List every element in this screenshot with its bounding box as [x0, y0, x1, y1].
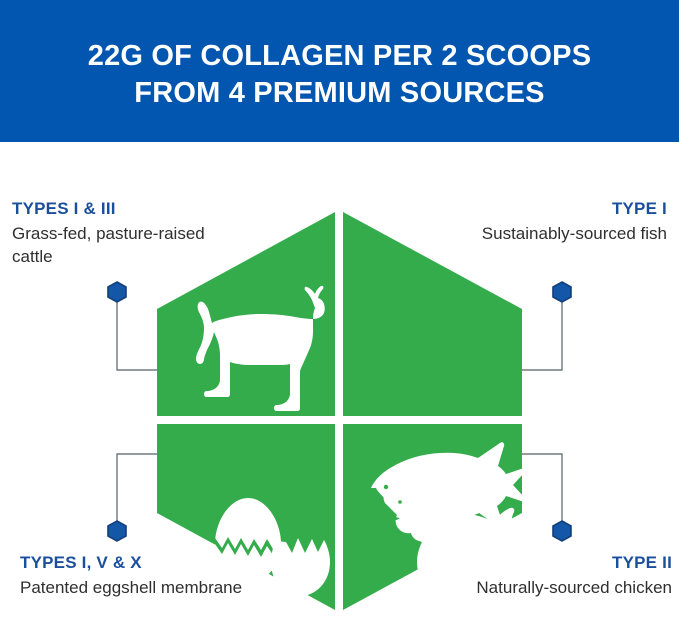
callout-chicken-description: Naturally-sourced chicken: [440, 576, 672, 599]
hexagon-marker-cattle[interactable]: [108, 282, 126, 302]
connector-line-fish: [522, 294, 562, 370]
header-title-line-2: FROM 4 PREMIUM SOURCES: [134, 75, 544, 112]
callout-chicken-title: TYPE II: [440, 552, 672, 574]
callout-chicken: TYPE II Naturally-sourced chicken: [440, 552, 672, 599]
hexagon-marker-eggshell[interactable]: [108, 521, 126, 541]
header-title-line-1: 22G OF COLLAGEN PER 2 SCOOPS: [88, 38, 592, 75]
callout-eggshell-title: TYPES I, V & X: [20, 552, 252, 574]
callout-cattle-title: TYPES I & III: [12, 198, 244, 220]
infographic-stage: TYPES I & III Grass-fed, pasture-raised …: [0, 142, 679, 630]
callout-cattle-description: Grass-fed, pasture-raised cattle: [12, 222, 244, 268]
callout-fish-description: Sustainably-sourced fish: [435, 222, 667, 245]
callout-eggshell-description: Patented eggshell membrane: [20, 576, 252, 599]
hexagon-marker-chicken[interactable]: [553, 521, 571, 541]
header-banner: 22G OF COLLAGEN PER 2 SCOOPS FROM 4 PREM…: [0, 0, 679, 142]
callout-cattle: TYPES I & III Grass-fed, pasture-raised …: [12, 198, 244, 268]
connector-line-eggshell: [117, 454, 158, 529]
hexagon-marker-fish[interactable]: [553, 282, 571, 302]
connector-line-cattle: [117, 294, 158, 370]
callout-fish-title: TYPE I: [435, 198, 667, 220]
callout-eggshell: TYPES I, V & X Patented eggshell membran…: [20, 552, 252, 599]
callout-fish: TYPE I Sustainably-sourced fish: [435, 198, 667, 245]
connector-line-chicken: [522, 454, 562, 529]
